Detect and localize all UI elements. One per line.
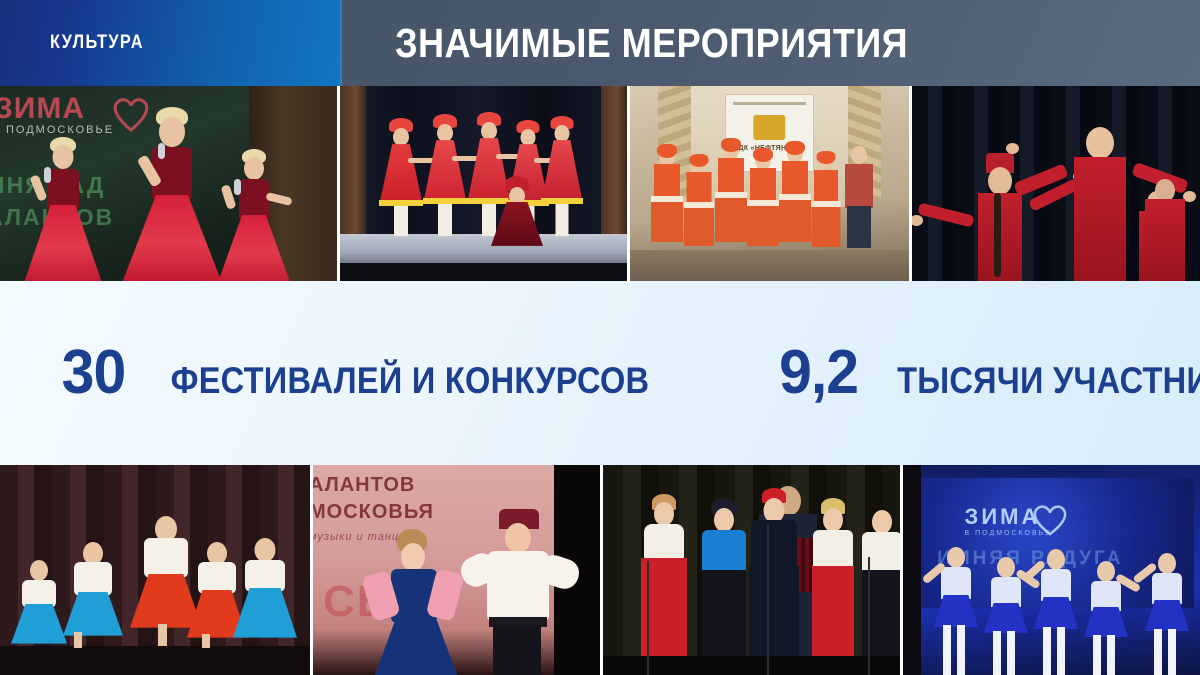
photo-couple-dance: АЛАНТОВ МОСКОВЬЯ музыки и танца СВ (313, 465, 603, 675)
majorette-figure (983, 555, 1029, 675)
gallery-bottom-row: АЛАНТОВ МОСКОВЬЯ музыки и танца СВ (0, 465, 1200, 675)
majorette-figure (933, 547, 979, 675)
dancer-figure-center (490, 176, 544, 246)
photo-caucasian-dance (912, 86, 1200, 281)
performer-figure (212, 139, 296, 281)
photo-kids-choir-accordion (603, 465, 903, 675)
performer-figure (118, 105, 226, 281)
performer-figure (810, 148, 842, 250)
photo6-banner-line2: МОСКОВЬЯ (313, 501, 434, 524)
child-dancer (10, 550, 68, 646)
performer-figure (714, 138, 748, 250)
female-dancer (361, 525, 471, 675)
male-dancer (463, 509, 583, 675)
stat-festivals-label: ФЕСТИВАЛЕЙ И КОНКУРСОВ (171, 362, 650, 399)
stat-participants-label: ТЫСЯЧИ УЧАСТНИКОВ (897, 362, 1200, 399)
dancer-figure (422, 114, 468, 238)
majorette-figure (1083, 557, 1129, 675)
child-singer (635, 488, 693, 656)
slide-header: КУЛЬТУРА ЗНАЧИМЫЕ МЕРОПРИЯТИЯ (0, 0, 1200, 86)
statistics-band: 30 ФЕСТИВАЛЕЙ И КОНКУРСОВ 9,2 ТЫСЯЧИ УЧА… (0, 281, 1200, 465)
gallery-top-row: ЗИМА ПОДМОСКОВЬЕ ННЯ РАД АЛАНТОВ (0, 86, 1200, 281)
photo-blue-majorettes: ЗИМА В ПОДМОСКОВЬЕ ИМНЯЯ РАДУГА (903, 465, 1200, 675)
child-dancer (1130, 175, 1200, 281)
photo6-banner-line1: АЛАНТОВ (313, 474, 415, 497)
photo-girls-singing: ЗИМА ПОДМОСКОВЬЕ ННЯ РАД АЛАНТОВ (0, 86, 340, 281)
photo8-screen-line1: ЗИМА (965, 504, 1041, 530)
child-singer (805, 492, 861, 656)
performer-figure (20, 131, 106, 281)
dancer-figure (378, 118, 424, 238)
child-dancer (62, 536, 124, 646)
child-soloist (743, 480, 805, 656)
child-dancer (232, 532, 298, 646)
performer-figure (778, 140, 812, 250)
photo-group-award: ДК «НЕФТЯНИК» (630, 86, 912, 281)
header-title-band: ЗНАЧИМЫЕ МЕРОПРИЯТИЯ (340, 0, 1200, 86)
heart-icon (1030, 502, 1070, 536)
photo-folk-dance-circle (340, 86, 630, 281)
stat-participants-number: 9,2 (779, 342, 858, 404)
majorette-figure (1144, 551, 1190, 675)
page-title: ЗНАЧИМЫЕ МЕРОПРИЯТИЯ (395, 23, 908, 64)
photo1-caption-zima: ЗИМА (0, 92, 85, 126)
stat-festivals-number: 30 (62, 342, 126, 404)
performer-figure (682, 150, 716, 250)
adult-figure (842, 142, 876, 250)
photo-kids-blue-red-dance (0, 465, 313, 675)
stat-festivals: 30 ФЕСТИВАЛЕЙ И КОНКУРСОВ (60, 342, 682, 404)
majorette-figure (1033, 549, 1079, 675)
stat-participants: 9,2 ТЫСЯЧИ УЧАСТНИКОВ (777, 342, 1200, 404)
performer-figure (650, 142, 684, 250)
header-category-label: КУЛЬТУРА (50, 32, 144, 54)
header-category-tag: КУЛЬТУРА (0, 0, 340, 86)
dancer-figure (540, 116, 584, 238)
performer-figure (746, 146, 780, 250)
child-singer (855, 498, 900, 656)
slide-root: КУЛЬТУРА ЗНАЧИМЫЕ МЕРОПРИЯТИЯ ЗИМА ПОДМО… (0, 0, 1200, 675)
